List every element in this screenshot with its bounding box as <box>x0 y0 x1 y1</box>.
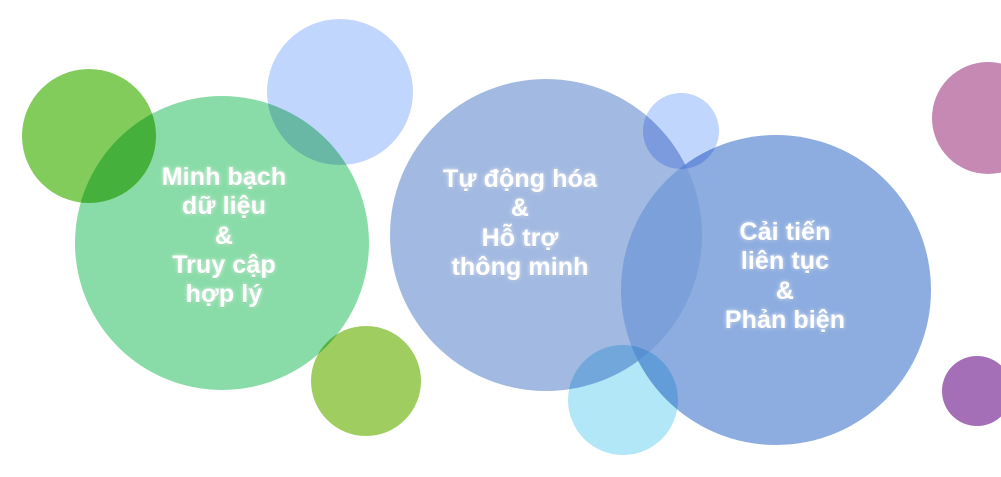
indigo-main-circle[interactable] <box>621 135 931 445</box>
purple-accent-right-circle <box>942 356 1001 426</box>
green-main-circle[interactable] <box>75 96 369 390</box>
pink-accent-right-circle <box>932 62 1001 174</box>
circles-layer <box>0 0 1001 477</box>
venn-diagram-canvas: Minh bạch dữ liệu & Truy cập hợp lý Tự đ… <box>0 0 1001 477</box>
